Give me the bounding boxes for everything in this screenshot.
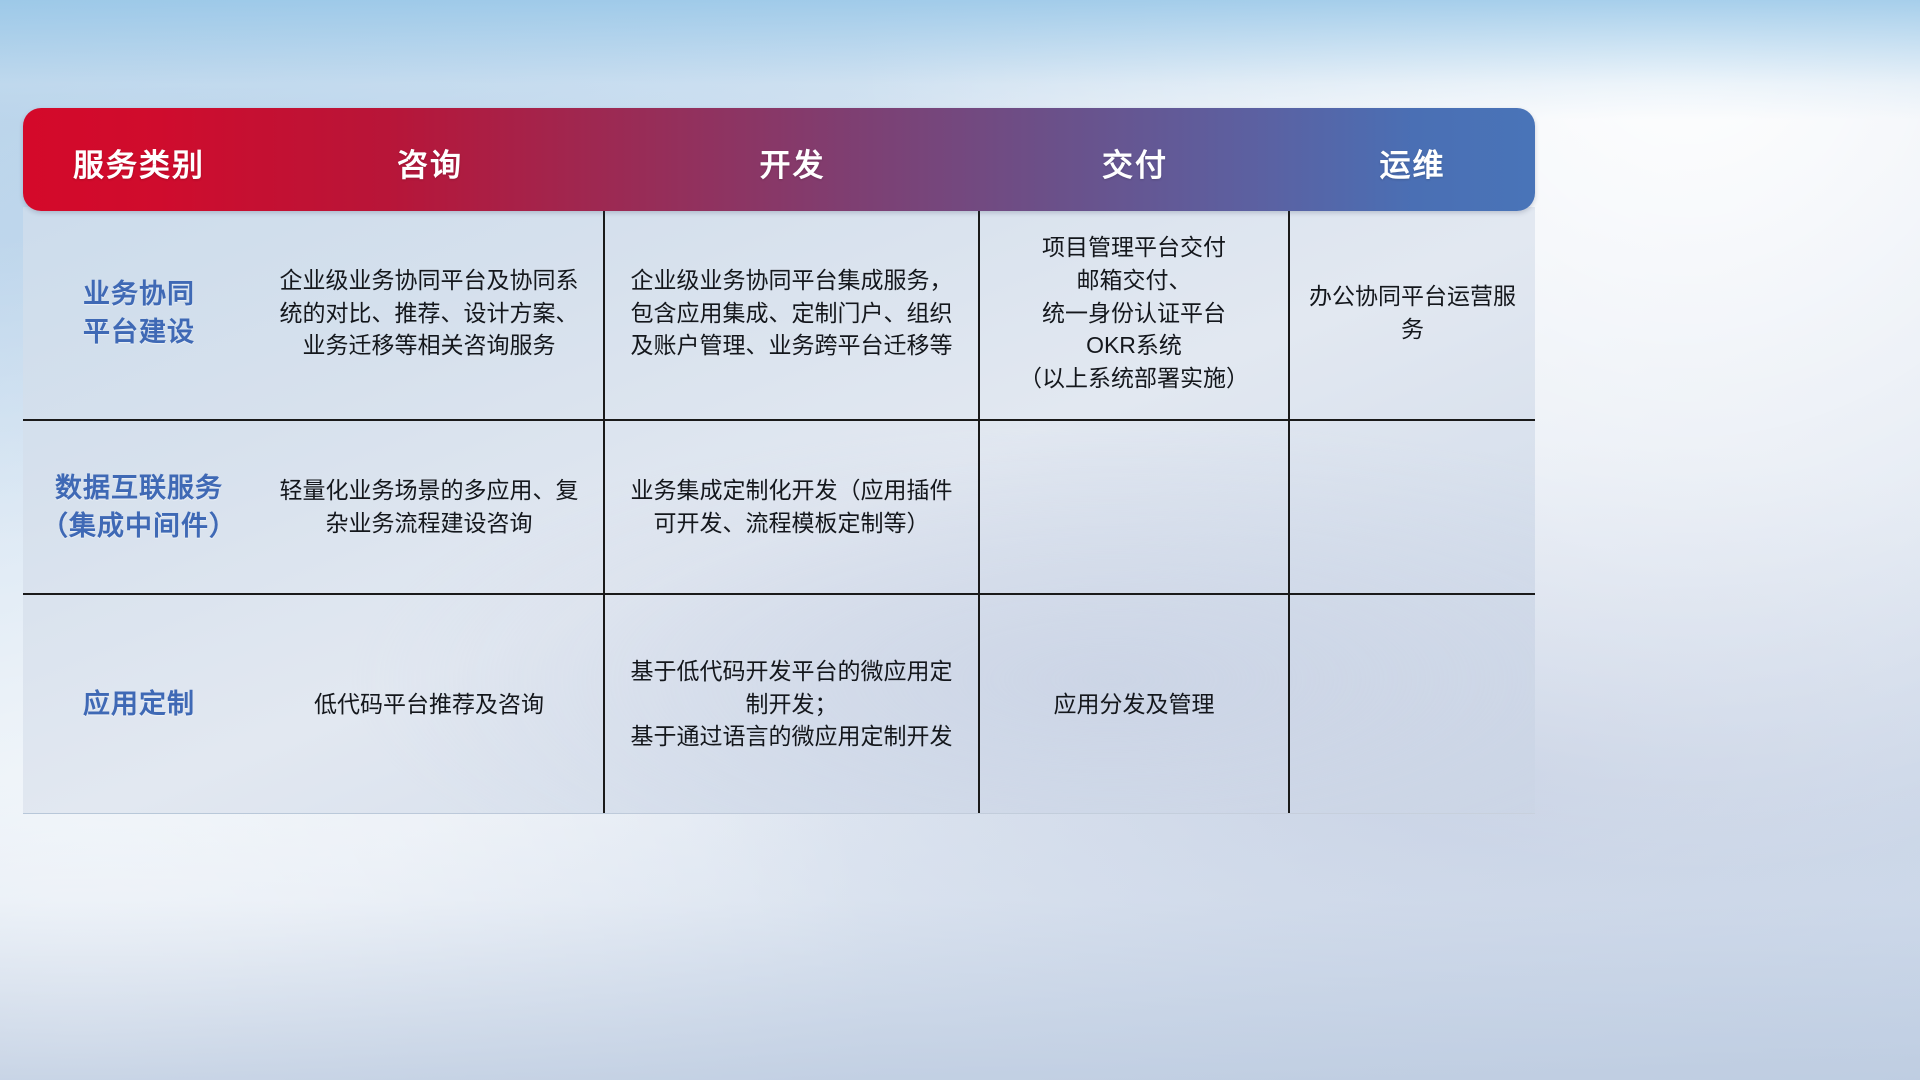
- cell-row1-consulting: 轻量化业务场景的多应用、复 杂业务流程建设咨询: [255, 421, 605, 593]
- table-body: 业务协同 平台建设 企业级业务协同平台及协同系 统的对比、推荐、设计方案、 业务…: [23, 207, 1535, 814]
- cell-row2-delivery: 应用分发及管理: [980, 595, 1290, 813]
- row-label-app-customization: 应用定制: [23, 595, 255, 813]
- column-header-consulting: 咨询: [255, 108, 605, 211]
- cell-row0-operations: 办公协同平台运营服务: [1290, 207, 1535, 419]
- background-top-sheen: [0, 0, 1920, 120]
- row-label-business-collaboration: 业务协同 平台建设: [23, 207, 255, 419]
- column-header-category: 服务类别: [23, 108, 255, 211]
- column-header-operations: 运维: [1290, 108, 1535, 211]
- table-row: 数据互联服务 （集成中间件） 轻量化业务场景的多应用、复 杂业务流程建设咨询 业…: [23, 421, 1535, 595]
- row-label-data-interconnect: 数据互联服务 （集成中间件）: [23, 421, 255, 593]
- table-row: 应用定制 低代码平台推荐及咨询 基于低代码开发平台的微应用定 制开发； 基于通过…: [23, 595, 1535, 813]
- service-matrix-table: 服务类别 咨询 开发 交付 运维 业务协同 平台建设 企业级业务协同平台及协同系…: [23, 108, 1535, 778]
- cell-row0-delivery: 项目管理平台交付 邮箱交付、 统一身份认证平台 OKR系统 （以上系统部署实施）: [980, 207, 1290, 419]
- cell-row1-delivery: [980, 421, 1290, 593]
- cell-row0-consulting: 企业级业务协同平台及协同系 统的对比、推荐、设计方案、 业务迁移等相关咨询服务: [255, 207, 605, 419]
- background-bottom-shade: [0, 780, 1920, 1080]
- cell-row1-operations: [1290, 421, 1535, 593]
- cell-row2-development: 基于低代码开发平台的微应用定 制开发； 基于通过语言的微应用定制开发: [605, 595, 980, 813]
- column-header-development: 开发: [605, 108, 980, 211]
- table-row: 业务协同 平台建设 企业级业务协同平台及协同系 统的对比、推荐、设计方案、 业务…: [23, 207, 1535, 421]
- cell-row2-operations: [1290, 595, 1535, 813]
- cell-row0-development: 企业级业务协同平台集成服务， 包含应用集成、定制门户、组织 及账户管理、业务跨平…: [605, 207, 980, 419]
- cell-row1-development: 业务集成定制化开发（应用插件 可开发、流程模板定制等）: [605, 421, 980, 593]
- column-header-delivery: 交付: [980, 108, 1290, 211]
- table-header-row: 服务类别 咨询 开发 交付 运维: [23, 108, 1535, 211]
- cell-row2-consulting: 低代码平台推荐及咨询: [255, 595, 605, 813]
